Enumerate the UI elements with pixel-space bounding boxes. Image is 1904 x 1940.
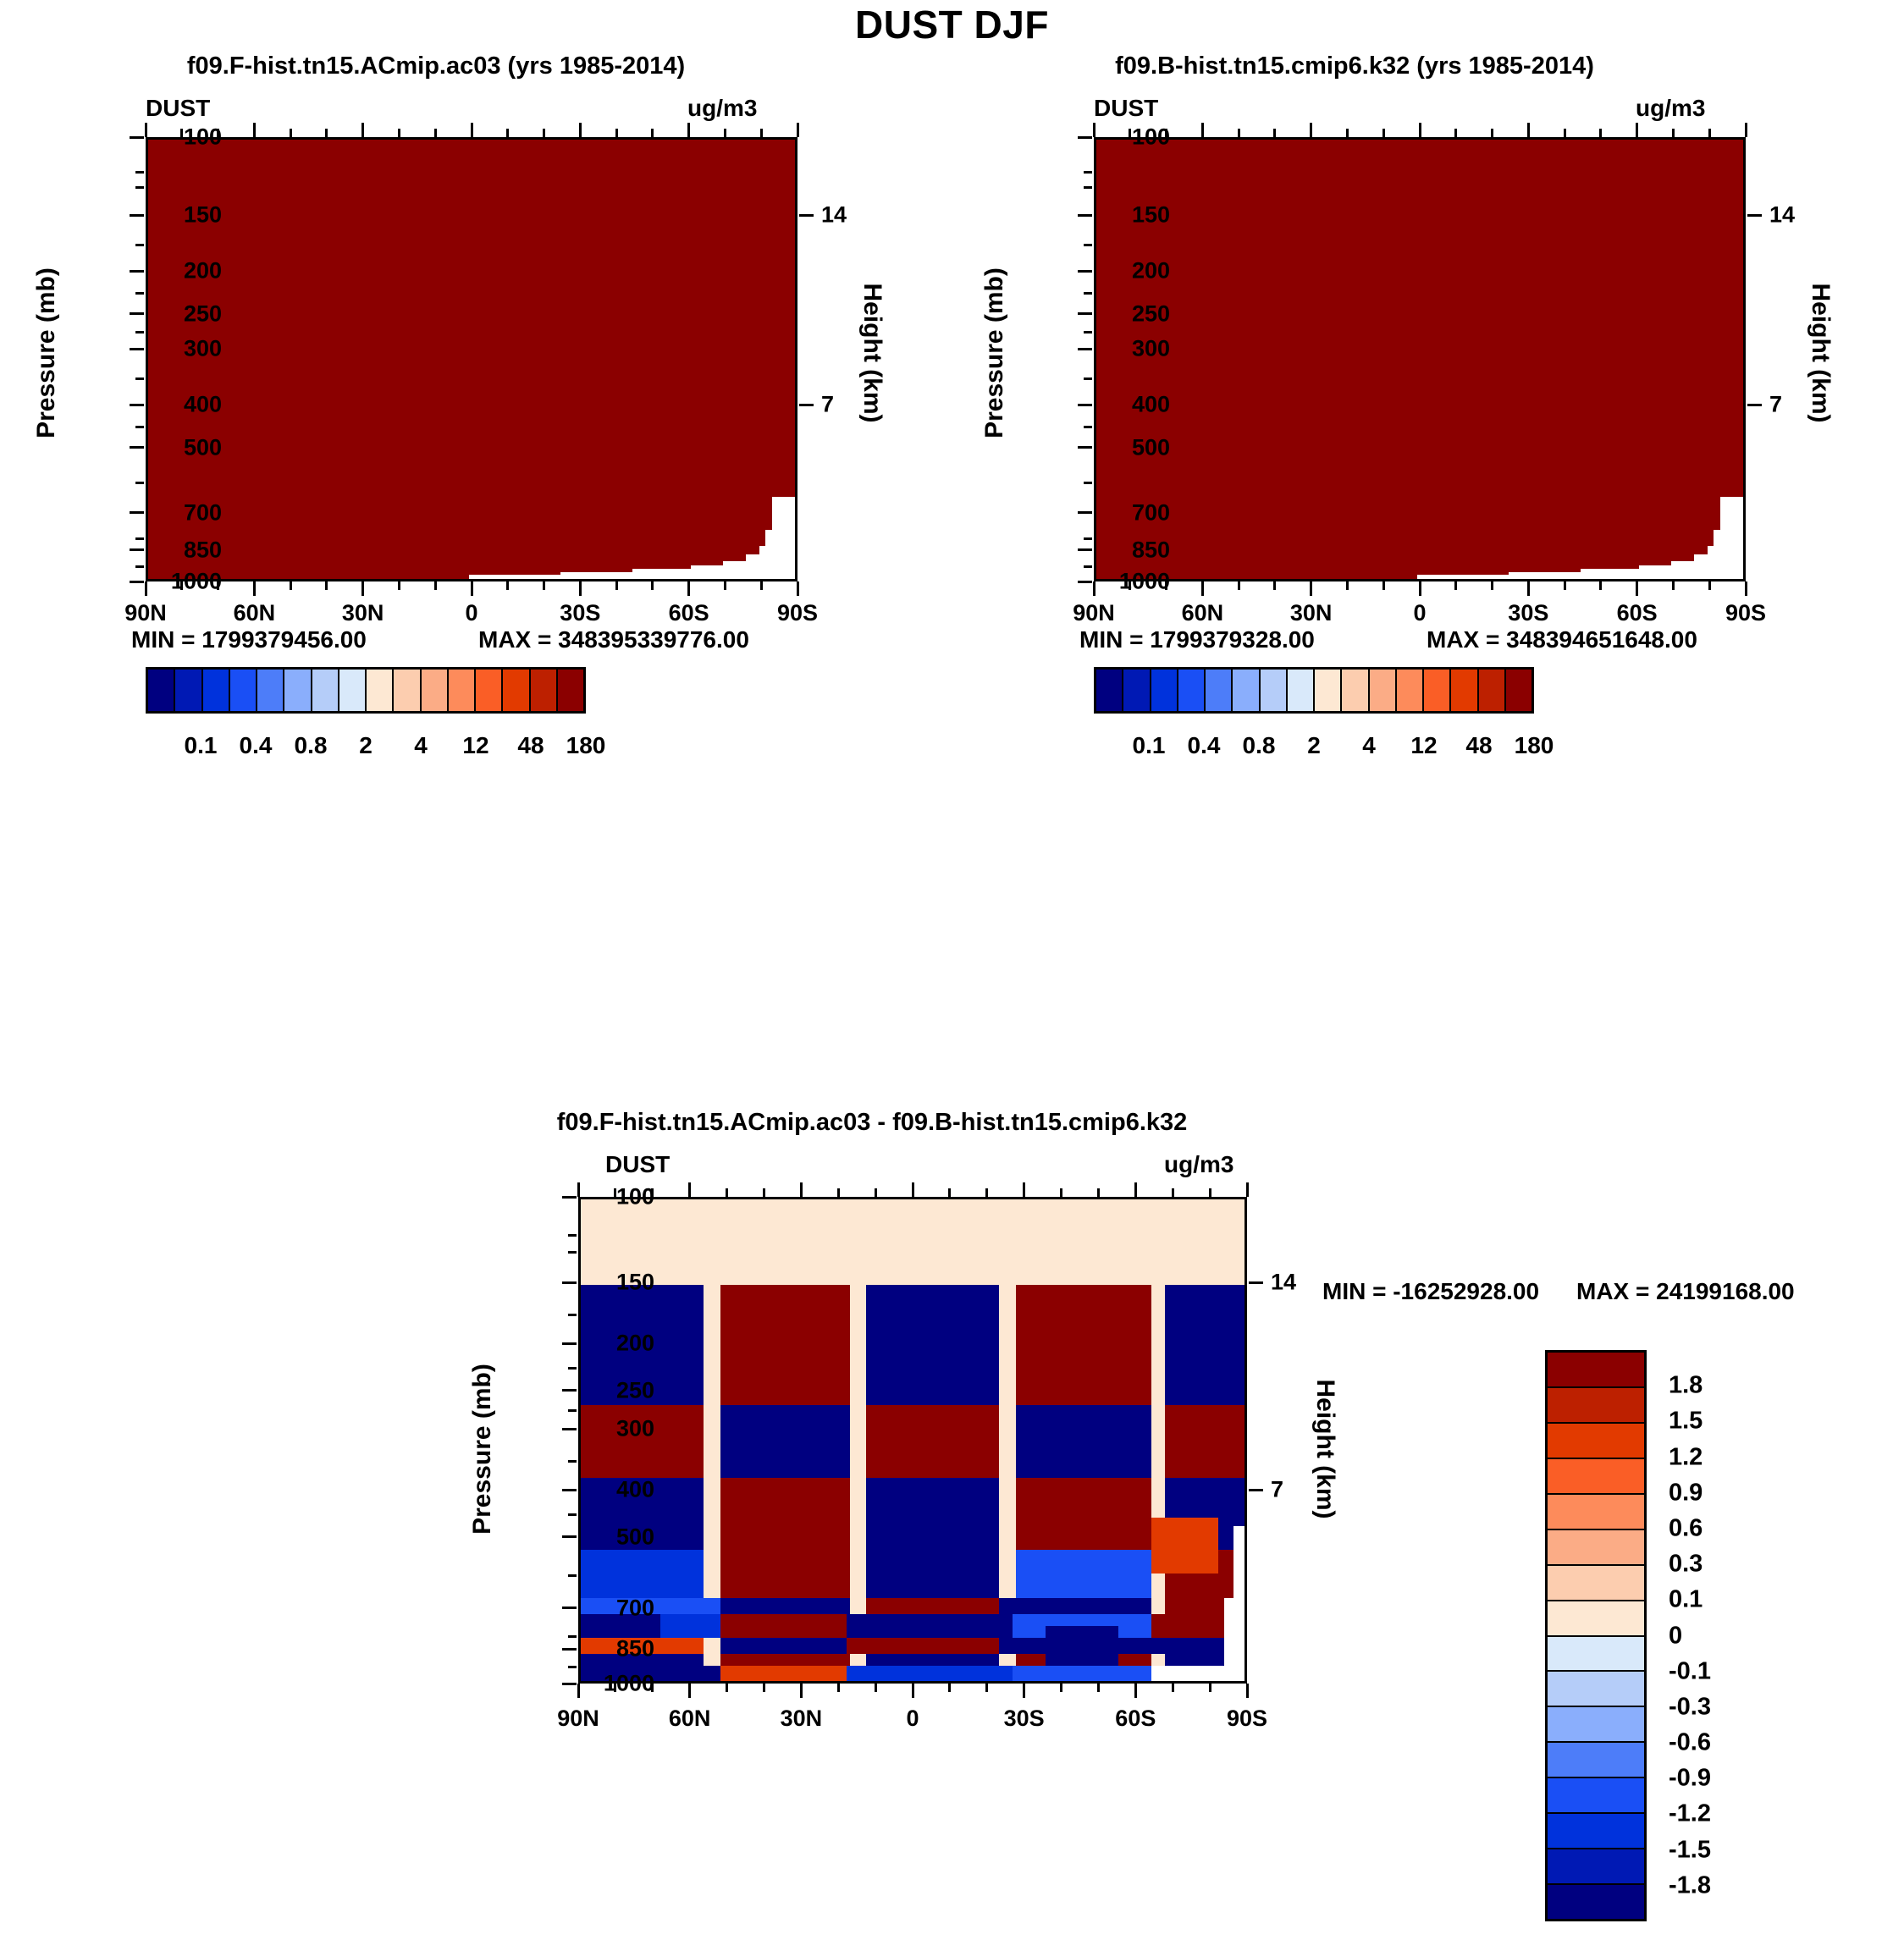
panel-right-top-title: f09.B-hist.tn15.cmip6.k32 (yrs 1985-2014…: [889, 52, 1820, 80]
pressure-minor-tick: [568, 1367, 577, 1370]
pressure-minor-tick: [1084, 378, 1092, 380]
panel-left-top-max: MAX = 348395339776.00: [478, 626, 749, 653]
diff-stripe-c: [720, 1550, 850, 1598]
colorbar-tick-label: 1.2: [1669, 1443, 1703, 1471]
pressure-minor-tick: [568, 1513, 577, 1516]
colorbar-tick-label: -1.8: [1669, 1871, 1711, 1899]
colorbar-cell: [1206, 670, 1233, 711]
colorbar-tick-label: 1.5: [1669, 1408, 1703, 1436]
pressure-minor-tick: [1084, 426, 1092, 428]
pressure-tick: [130, 214, 144, 217]
diff-stripe-c: [866, 1550, 999, 1598]
lat-tick-bottom: [912, 1684, 914, 1698]
panel-right-top-var-label: DUST: [1094, 95, 1158, 122]
lat-minor-tick-top: [760, 129, 763, 137]
lat-minor-tick-bottom: [763, 1684, 765, 1692]
lat-minor-tick-top: [290, 129, 292, 137]
colorbar-cell: [1548, 1353, 1644, 1388]
lat-tick-top: [1093, 123, 1095, 137]
diff-stripe-g: [1013, 1666, 1152, 1684]
panel-right-top-y2label: Height (km): [1806, 243, 1835, 463]
lat-minor-tick-top: [1060, 1188, 1062, 1197]
pressure-minor-tick: [135, 171, 144, 174]
lat-tick-bottom: [1745, 581, 1747, 596]
lat-tick-top: [1310, 123, 1312, 137]
colorbar-cell: [503, 670, 530, 711]
colorbar-cell: [230, 670, 257, 711]
lat-tick-top: [253, 123, 256, 137]
lat-minor-tick-bottom: [1165, 581, 1167, 590]
lat-minor-tick-top: [724, 129, 726, 137]
colorbar-tick-label: 0.4: [1188, 732, 1221, 759]
lat-tick-label: 60N: [1182, 600, 1224, 626]
pressure-minor-tick: [135, 482, 144, 484]
lat-tick-label: 0: [465, 600, 477, 626]
colorbar-tick-label: 0.1: [185, 732, 218, 759]
colorbar-tick-label: 1.8: [1669, 1372, 1703, 1400]
panel-diff-colorbar-labels: 1.81.51.20.90.60.30.10-0.1-0.3-0.6-0.9-1…: [1664, 1350, 1774, 1921]
lat-minor-tick-top: [985, 1188, 988, 1197]
colorbar-cell: [1151, 670, 1178, 711]
lat-tick-label: 30S: [1004, 1706, 1045, 1732]
colorbar-cell: [1548, 1849, 1644, 1885]
diff-stripe-c: [581, 1550, 704, 1598]
panel-diff-y2label: Height (km): [1311, 1339, 1339, 1559]
pressure-tick: [130, 312, 144, 315]
colorbar-cell: [1397, 670, 1424, 711]
colorbar-cell: [1342, 670, 1369, 711]
colorbar-cell: [148, 670, 175, 711]
pressure-minor-tick: [568, 1251, 577, 1254]
lat-minor-tick-bottom: [985, 1684, 988, 1692]
lat-minor-tick-bottom: [1454, 581, 1457, 590]
colorbar-tick-label: -1.5: [1669, 1836, 1711, 1864]
colorbar-tick-label: 2: [1307, 732, 1321, 759]
lat-tick-bottom: [253, 581, 256, 596]
lat-tick-top: [145, 123, 147, 137]
colorbar-cell: [257, 670, 284, 711]
colorbar-tick-label: 0: [1669, 1622, 1682, 1650]
lat-minor-tick-top: [1097, 1188, 1100, 1197]
height-tick-label: 14: [821, 202, 847, 229]
lat-minor-tick-top: [1172, 1188, 1174, 1197]
height-tick: [1747, 214, 1762, 217]
colorbar-tick-label: 0.4: [240, 732, 273, 759]
lat-tick-label: 30S: [560, 600, 600, 626]
colorbar-cell: [1548, 1495, 1644, 1530]
lat-minor-tick-top: [837, 1188, 840, 1197]
pressure-tick: [562, 1648, 577, 1651]
colorbar-cell: [1479, 670, 1506, 711]
lat-tick-bottom: [797, 581, 799, 596]
colorbar-cell: [1315, 670, 1342, 711]
pressure-minor-tick: [1084, 171, 1092, 174]
colorbar-cell: [531, 670, 558, 711]
lat-minor-tick-bottom: [543, 581, 545, 590]
missing-data-step: [469, 575, 795, 579]
pressure-minor-tick: [135, 186, 144, 189]
lat-minor-tick-bottom: [1209, 1684, 1211, 1692]
lat-tick-label: 30N: [781, 1706, 823, 1732]
pressure-tick: [562, 1535, 577, 1538]
colorbar-cell: [1424, 670, 1451, 711]
panel-diff-plot-area: [578, 1197, 1247, 1684]
lat-tick-label: 30S: [1508, 600, 1548, 626]
lat-minor-tick-bottom: [760, 581, 763, 590]
lat-minor-tick-bottom: [837, 1684, 840, 1692]
lat-minor-tick-bottom: [1599, 581, 1602, 590]
colorbar-tick-label: -1.2: [1669, 1800, 1711, 1828]
lat-tick-bottom: [1527, 581, 1530, 596]
diff-stripe-f: [847, 1614, 1013, 1638]
pressure-minor-tick: [568, 1409, 577, 1412]
colorbar-cell: [1548, 1814, 1644, 1849]
colorbar-cell: [1548, 1601, 1644, 1637]
pressure-tick: [130, 136, 144, 139]
pressure-tick: [1078, 270, 1092, 273]
height-tick: [1249, 1489, 1263, 1491]
colorbar-cell: [1548, 1566, 1644, 1601]
height-tick-label: 7: [821, 392, 834, 418]
panel-left-top-var-label: DUST: [146, 95, 210, 122]
lat-minor-tick-top: [1129, 129, 1131, 137]
panel-diff-colorbar: [1545, 1350, 1647, 1921]
lat-tick-bottom: [1201, 581, 1204, 596]
lat-tick-bottom: [1134, 1684, 1137, 1698]
pressure-minor-tick: [135, 537, 144, 540]
height-tick: [1249, 1281, 1263, 1284]
diff-stripe-b: [1016, 1478, 1152, 1550]
panel-left-top-title: f09.F-hist.tn15.ACmip.ac03 (yrs 1985-201…: [0, 52, 872, 80]
diff-stripe-g: [720, 1666, 847, 1684]
lat-tick-label: 0: [906, 1706, 919, 1732]
colorbar-tick-label: 48: [1465, 732, 1492, 759]
pressure-minor-tick: [1084, 244, 1092, 246]
lat-minor-tick-bottom: [651, 1684, 654, 1692]
panel-diff-max: MAX = 24199168.00: [1576, 1278, 1795, 1305]
diff-stripe-a: [1016, 1405, 1152, 1477]
colorbar-cell: [1548, 1885, 1644, 1919]
lat-minor-tick-top: [217, 129, 219, 137]
height-tick-label: 14: [1271, 1270, 1296, 1296]
lat-tick-top: [688, 1182, 691, 1197]
lat-minor-tick-bottom: [1346, 581, 1349, 590]
pressure-minor-tick: [1084, 331, 1092, 333]
lat-minor-tick-bottom: [1238, 581, 1240, 590]
lat-tick-bottom: [687, 581, 690, 596]
panel-left-top-colorbar: [146, 667, 586, 714]
colorbar-tick-label: -0.9: [1669, 1765, 1711, 1793]
lat-minor-tick-bottom: [948, 1684, 951, 1692]
lat-tick-bottom: [800, 1684, 803, 1698]
lat-minor-tick-bottom: [1129, 581, 1131, 590]
lat-minor-tick-top: [651, 129, 654, 137]
pressure-tick: [562, 1281, 577, 1284]
lat-tick-bottom: [577, 1684, 580, 1698]
pressure-tick: [130, 446, 144, 449]
pressure-minor-tick: [135, 331, 144, 333]
height-tick-label: 7: [1271, 1477, 1283, 1503]
lat-tick-top: [1134, 1182, 1137, 1197]
lat-tick-label: 90N: [557, 1706, 599, 1732]
colorbar-cell: [284, 670, 312, 711]
lat-minor-tick-top: [1238, 129, 1240, 137]
panel-left-top-unit-label: ug/m3: [687, 95, 757, 122]
lat-minor-tick-top: [325, 129, 328, 137]
pressure-tick: [1078, 214, 1092, 217]
colorbar-tick-label: -0.3: [1669, 1693, 1711, 1721]
lat-minor-tick-bottom: [434, 581, 437, 590]
lat-tick-bottom: [1246, 1684, 1249, 1698]
lat-tick-bottom: [1023, 1684, 1025, 1698]
colorbar-cell: [422, 670, 449, 711]
lat-tick-top: [1023, 1182, 1025, 1197]
colorbar-cell: [203, 670, 230, 711]
colorbar-cell: [1288, 670, 1315, 711]
pressure-tick: [562, 1342, 577, 1345]
colorbar-tick-label: 180: [566, 732, 606, 759]
missing-data-step: [1417, 575, 1743, 579]
lat-tick-label: 60S: [1115, 1706, 1156, 1732]
lat-minor-tick-bottom: [180, 581, 183, 590]
lat-minor-tick-top: [1491, 129, 1493, 137]
lat-minor-tick-bottom: [398, 581, 400, 590]
pressure-minor-tick: [568, 1314, 577, 1316]
lat-minor-tick-bottom: [217, 581, 219, 590]
colorbar-cell: [1548, 1672, 1644, 1707]
diff-stripe-c: [1016, 1550, 1152, 1598]
lat-minor-tick-bottom: [1097, 1684, 1100, 1692]
colorbar-cell: [558, 670, 583, 711]
panel-left-top-y2label: Height (km): [858, 243, 886, 463]
pressure-tick: [130, 270, 144, 273]
lat-tick-label: 60S: [669, 600, 709, 626]
lat-minor-tick-bottom: [1564, 581, 1566, 590]
colorbar-cell: [1548, 1388, 1644, 1424]
lat-tick-top: [1201, 123, 1204, 137]
lat-tick-label: 60N: [234, 600, 276, 626]
panel-diff-title: f09.F-hist.tn15.ACmip.ac03 - f09.B-hist.…: [0, 1109, 1744, 1137]
pressure-minor-tick: [568, 1635, 577, 1638]
lat-minor-tick-bottom: [724, 581, 726, 590]
colorbar-cell: [1506, 670, 1531, 711]
saturated-fill: [148, 140, 795, 579]
pressure-minor-tick: [135, 244, 144, 246]
colorbar-tick-label: 180: [1515, 732, 1554, 759]
lat-minor-tick-bottom: [726, 1684, 728, 1692]
lat-minor-tick-bottom: [1273, 581, 1276, 590]
pressure-minor-tick: [1084, 537, 1092, 540]
lat-minor-tick-bottom: [1708, 581, 1711, 590]
lat-minor-tick-bottom: [506, 581, 509, 590]
height-tick-label: 14: [1769, 202, 1795, 229]
lat-tick-bottom: [1636, 581, 1638, 596]
pressure-minor-tick: [568, 1460, 577, 1463]
lat-minor-tick-top: [651, 1188, 654, 1197]
lat-tick-bottom: [471, 581, 473, 596]
lat-tick-label: 90S: [777, 600, 818, 626]
lat-minor-tick-top: [398, 129, 400, 137]
pressure-minor-tick: [135, 378, 144, 380]
lat-tick-label: 30N: [1290, 600, 1333, 626]
diff-stripe-b: [866, 1478, 999, 1550]
colorbar-tick-label: -0.1: [1669, 1657, 1711, 1685]
lat-tick-top: [577, 1182, 580, 1197]
lat-tick-label: 60N: [669, 1706, 711, 1732]
lat-tick-top: [797, 123, 799, 137]
lat-tick-top: [1636, 123, 1638, 137]
panel-right-top-unit-label: ug/m3: [1636, 95, 1705, 122]
pressure-minor-tick: [1084, 186, 1092, 189]
lat-tick-top: [471, 123, 473, 137]
diff-stripe-a: [720, 1405, 850, 1477]
page-title: DUST DJF: [0, 2, 1904, 47]
lat-minor-tick-top: [180, 129, 183, 137]
lat-minor-tick-bottom: [614, 1684, 616, 1692]
colorbar-cell: [394, 670, 421, 711]
lat-minor-tick-bottom: [1672, 581, 1675, 590]
diff-stripe-a: [1165, 1405, 1244, 1477]
colorbar-tick-label: 48: [517, 732, 544, 759]
pressure-minor-tick: [1084, 565, 1092, 568]
lat-minor-tick-top: [543, 129, 545, 137]
panel-left-top-ylabel: Pressure (mb): [32, 243, 61, 463]
pressure-minor-tick: [135, 292, 144, 295]
height-tick: [1747, 404, 1762, 406]
panel-right-top-min: MIN = 1799379328.00: [1079, 626, 1315, 653]
colorbar-cell: [1548, 1530, 1644, 1566]
colorbar-cell: [1178, 670, 1206, 711]
pressure-tick: [1078, 511, 1092, 514]
lat-minor-tick-top: [1165, 129, 1167, 137]
pressure-tick: [562, 1489, 577, 1491]
lat-minor-tick-top: [1599, 129, 1602, 137]
colorbar-tick-label: 0.1: [1133, 732, 1166, 759]
lat-tick-bottom: [688, 1684, 691, 1698]
lat-minor-tick-top: [1454, 129, 1457, 137]
colorbar-cell: [1548, 1778, 1644, 1814]
lat-minor-tick-bottom: [651, 581, 654, 590]
diff-lower-region: [581, 1285, 1244, 1684]
panel-left-top-colorbar-labels: 0.10.40.8241248180: [146, 732, 586, 761]
pressure-tick: [1078, 312, 1092, 315]
colorbar-tick-label: 0.1: [1669, 1586, 1703, 1614]
pressure-tick: [1078, 581, 1092, 583]
lat-minor-tick-bottom: [615, 581, 618, 590]
lat-tick-top: [800, 1182, 803, 1197]
lat-tick-top: [1745, 123, 1747, 137]
missing-data-wedge: [1233, 1526, 1244, 1684]
pressure-tick: [1078, 548, 1092, 551]
lat-tick-bottom: [1419, 581, 1421, 596]
colorbar-cell: [1123, 670, 1151, 711]
colorbar-tick-label: 2: [359, 732, 373, 759]
lat-minor-tick-top: [1672, 129, 1675, 137]
diff-orange-patch: [1151, 1518, 1217, 1573]
lat-tick-top: [1246, 1182, 1249, 1197]
lat-minor-tick-bottom: [1172, 1684, 1174, 1692]
lat-tick-top: [912, 1182, 914, 1197]
lat-tick-top: [1419, 123, 1421, 137]
colorbar-cell: [1451, 670, 1478, 711]
colorbar-cell: [1548, 1637, 1644, 1673]
panel-left-top-plot-area: [146, 137, 797, 581]
colorbar-cell: [1233, 670, 1260, 711]
colorbar-cell: [367, 670, 394, 711]
lat-minor-tick-bottom: [325, 581, 328, 590]
height-tick: [799, 214, 814, 217]
pressure-minor-tick: [1084, 482, 1092, 484]
pressure-tick: [562, 1607, 577, 1609]
pressure-tick: [130, 404, 144, 406]
lat-tick-bottom: [145, 581, 147, 596]
lat-minor-tick-top: [615, 129, 618, 137]
lat-tick-top: [1527, 123, 1530, 137]
lat-minor-tick-top: [726, 1188, 728, 1197]
panel-diff-var-label: DUST: [605, 1151, 670, 1178]
panel-right-top-plot-area: [1094, 137, 1746, 581]
height-tick: [799, 404, 814, 406]
diff-stripe-a: [866, 1405, 999, 1477]
pressure-tick: [562, 1389, 577, 1392]
pressure-minor-tick: [568, 1666, 577, 1668]
panel-diff-unit-label: ug/m3: [1164, 1151, 1233, 1178]
panel-left-top-min: MIN = 1799379456.00: [131, 626, 367, 653]
colorbar-cell: [1548, 1707, 1644, 1743]
lat-tick-label: 90S: [1227, 1706, 1267, 1732]
colorbar-tick-label: 12: [1410, 732, 1437, 759]
colorbar-cell: [312, 670, 339, 711]
lat-minor-tick-top: [875, 1188, 877, 1197]
lat-tick-label: 60S: [1617, 600, 1658, 626]
pressure-minor-tick: [568, 1234, 577, 1237]
lat-minor-tick-top: [1564, 129, 1566, 137]
colorbar-tick-label: 0.8: [1243, 732, 1276, 759]
pressure-tick: [562, 1683, 577, 1685]
lat-tick-top: [579, 123, 582, 137]
lat-minor-tick-top: [763, 1188, 765, 1197]
lat-tick-bottom: [1310, 581, 1312, 596]
lat-minor-tick-top: [948, 1188, 951, 1197]
colorbar-cell: [1096, 670, 1123, 711]
pressure-tick: [130, 511, 144, 514]
lat-tick-label: 0: [1413, 600, 1426, 626]
panel-right-top-ylabel: Pressure (mb): [980, 243, 1009, 463]
colorbar-tick-label: 0.3: [1669, 1551, 1703, 1579]
colorbar-cell: [175, 670, 202, 711]
colorbar-cell: [1370, 670, 1397, 711]
lat-tick-label: 90N: [1073, 600, 1115, 626]
colorbar-tick-label: 12: [462, 732, 488, 759]
colorbar-cell: [339, 670, 367, 711]
lat-tick-bottom: [1093, 581, 1095, 596]
lat-tick-top: [687, 123, 690, 137]
pressure-tick: [130, 581, 144, 583]
colorbar-cell: [1548, 1459, 1644, 1495]
lat-minor-tick-top: [614, 1188, 616, 1197]
lat-tick-label: 90S: [1725, 600, 1766, 626]
lat-tick-bottom: [579, 581, 582, 596]
colorbar-cell: [1548, 1743, 1644, 1778]
lat-minor-tick-top: [1209, 1188, 1211, 1197]
colorbar-cell: [476, 670, 503, 711]
colorbar-tick-label: 0.6: [1669, 1514, 1703, 1542]
pressure-tick: [1078, 446, 1092, 449]
panel-right-top-colorbar: [1094, 667, 1534, 714]
diff-stripe-f: [660, 1614, 720, 1638]
lat-minor-tick-top: [1346, 129, 1349, 137]
lat-tick-label: 90N: [124, 600, 167, 626]
